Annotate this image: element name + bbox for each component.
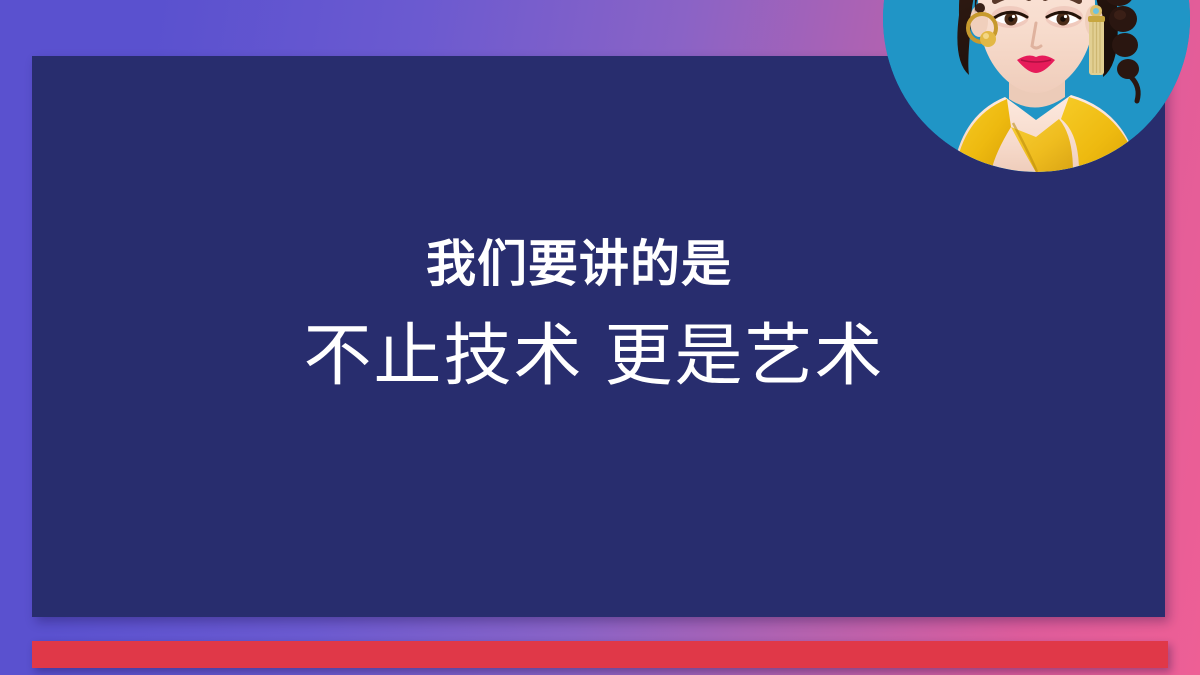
portrait-photo xyxy=(883,0,1190,172)
presentation-slide: 我们要讲的是 不止技术 更是艺术 xyxy=(0,0,1200,675)
portrait-illustration xyxy=(883,0,1190,172)
accent-bar xyxy=(32,641,1168,668)
